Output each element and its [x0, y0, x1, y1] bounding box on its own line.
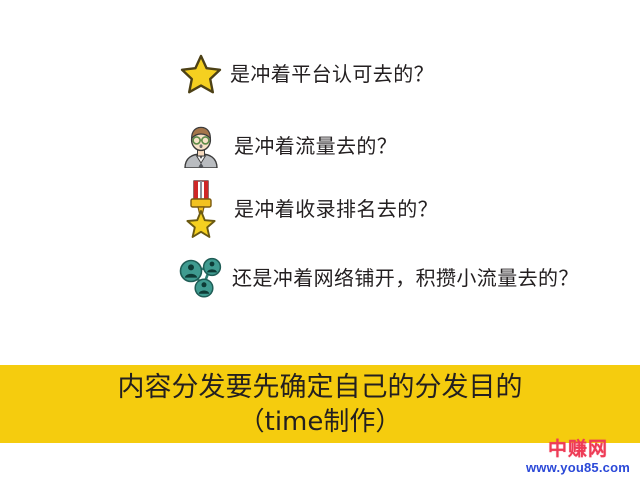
list-item: 是冲着平台认可去的？	[178, 48, 434, 100]
list-item-label: 是冲着收录排名去的？	[234, 197, 438, 221]
list-item: 还是冲着网络铺开，积攒小流量去的？	[178, 252, 579, 304]
gold-star-icon	[178, 48, 224, 100]
watermark: 中赚网 www.you85.com	[524, 440, 632, 474]
person-with-glasses-icon	[178, 120, 224, 172]
list-item-label: 是冲着平台认可去的？	[230, 62, 434, 86]
list-item-label: 还是冲着网络铺开，积攒小流量去的？	[232, 266, 579, 290]
banner-subtitle: （time制作）	[239, 406, 402, 439]
banner-title: 内容分发要先确定自己的分发目的	[118, 371, 523, 406]
medal-star-icon	[178, 180, 224, 238]
slide-canvas: 是冲着平台认可去的？	[0, 0, 640, 480]
watermark-url: www.you85.com	[524, 461, 632, 474]
watermark-brand: 中赚网	[524, 440, 632, 459]
highlight-banner: 内容分发要先确定自己的分发目的 （time制作）	[0, 365, 640, 443]
list-item: 是冲着流量去的？	[178, 120, 397, 172]
list-item: 是冲着收录排名去的？	[178, 180, 438, 238]
people-network-icon	[178, 252, 224, 304]
list-item-label: 是冲着流量去的？	[234, 134, 397, 158]
